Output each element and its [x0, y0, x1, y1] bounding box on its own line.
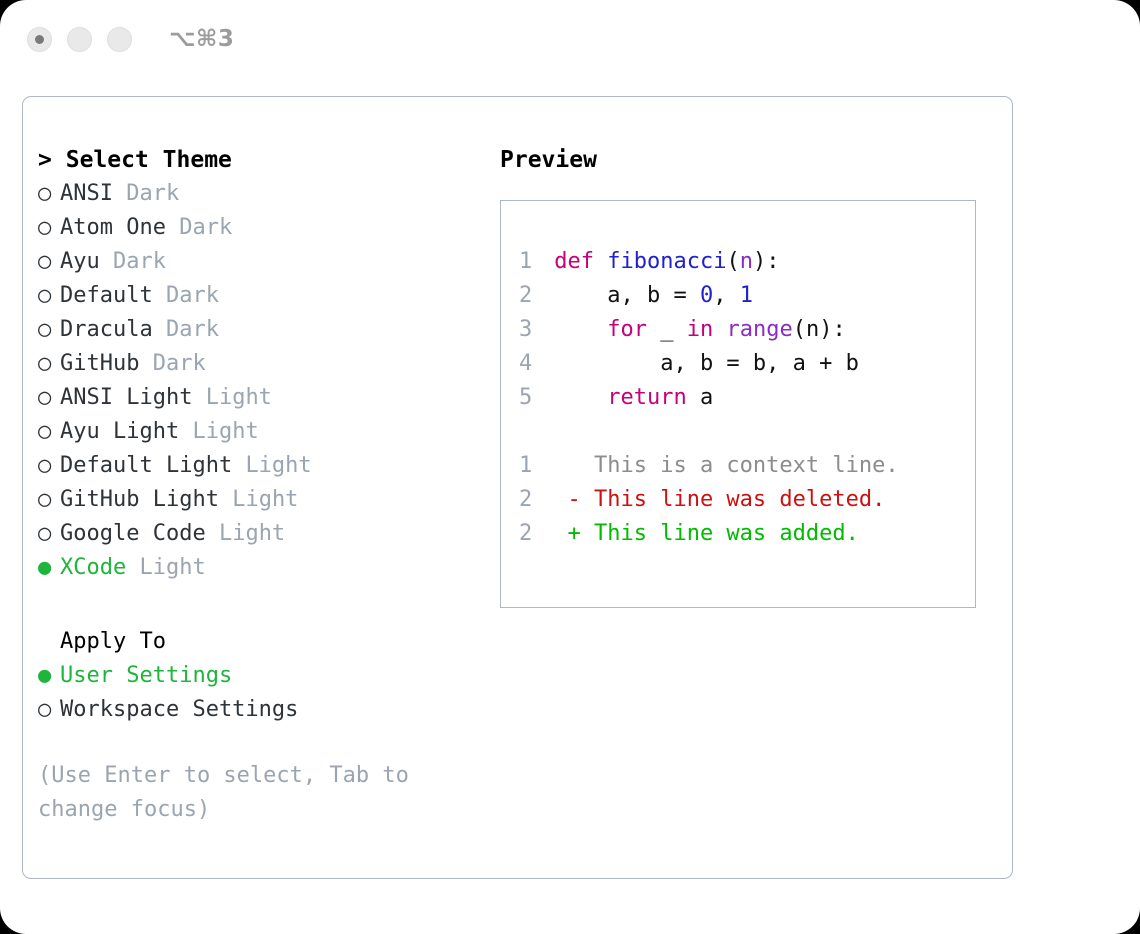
window-dot-2-icon[interactable]: [67, 27, 92, 52]
line-number: 1: [519, 449, 541, 483]
code-token: a: [687, 385, 714, 410]
diff-line: 2 - This line was deleted.: [519, 483, 975, 517]
heading-text: Select Theme: [66, 147, 232, 173]
theme-name: Google Code: [60, 521, 206, 546]
code-line: 3 for _ in range(n):: [519, 313, 975, 347]
code-token: [713, 317, 726, 342]
diff-text: + This line was added.: [541, 521, 859, 546]
app-window: ⌥⌘3 > Select Theme ○ANSI Dark○Atom One D…: [0, 0, 1140, 934]
gap: [232, 453, 245, 478]
gap: [219, 487, 232, 512]
diff-line: 1 This is a context line.: [519, 449, 975, 483]
preview-column: Preview 1 def fibonacci(n):2 a, b = 0, 1…: [500, 143, 1000, 608]
code-token: 0: [700, 283, 713, 308]
line-number: 2: [519, 483, 541, 517]
code-token: [554, 317, 607, 342]
radio-unselected-icon: ○: [38, 245, 60, 279]
code-blank-line: [519, 415, 975, 449]
code-line: 1 def fibonacci(n):: [519, 245, 975, 279]
heading-prefix: >: [38, 147, 52, 173]
gap: [126, 555, 139, 580]
code-token: [554, 385, 607, 410]
gap: [153, 283, 166, 308]
apply-to-heading: Apply To: [38, 625, 488, 659]
theme-kind-label: Dark: [179, 215, 232, 240]
code-block: 1 def fibonacci(n):2 a, b = 0, 13 for _ …: [519, 245, 975, 415]
theme-kind-label: Light: [139, 555, 205, 580]
code-token: n: [740, 249, 753, 274]
theme-list-item[interactable]: ○Dracula Dark: [38, 313, 488, 347]
theme-list-item[interactable]: ○Default Dark: [38, 279, 488, 313]
diff-text: This is a context line.: [541, 453, 899, 478]
main-panel: > Select Theme ○ANSI Dark○Atom One Dark○…: [22, 96, 1013, 879]
theme-name: ANSI: [60, 181, 113, 206]
theme-name: Dracula: [60, 317, 153, 342]
theme-name: XCode: [60, 555, 126, 580]
gap: [541, 351, 554, 376]
radio-unselected-icon: ○: [38, 517, 60, 551]
gap: [179, 419, 192, 444]
theme-name: Ayu Light: [60, 419, 179, 444]
radio-unselected-icon: ○: [38, 449, 60, 483]
theme-kind-label: Dark: [166, 317, 219, 342]
radio-unselected-icon: ○: [38, 211, 60, 245]
radio-selected-icon: ●: [38, 551, 60, 585]
code-token: 1: [740, 283, 753, 308]
line-number: 2: [519, 517, 541, 551]
code-token: [594, 249, 607, 274]
code-token: a, b =: [554, 283, 700, 308]
radio-unselected-icon: ○: [38, 693, 60, 727]
radio-selected-icon: ●: [38, 659, 60, 693]
select-theme-heading: > Select Theme: [38, 143, 488, 177]
code-token: def: [554, 249, 594, 274]
code-token: range: [726, 317, 792, 342]
spacer: [38, 727, 488, 759]
code-token: (: [726, 249, 739, 274]
window-dot-active-icon[interactable]: [27, 27, 52, 52]
theme-name: GitHub: [60, 351, 139, 376]
code-line: 4 a, b = b, a + b: [519, 347, 975, 381]
theme-kind-label: Dark: [126, 181, 179, 206]
gap: [206, 521, 219, 546]
theme-list-item[interactable]: ○Google Code Light: [38, 517, 488, 551]
code-token: for: [607, 317, 647, 342]
line-number: 5: [519, 381, 541, 415]
theme-name: Ayu: [60, 249, 100, 274]
radio-unselected-icon: ○: [38, 177, 60, 211]
apply-to-item[interactable]: ●User Settings: [38, 659, 488, 693]
apply-to-name: User Settings: [60, 663, 232, 688]
apply-to-item[interactable]: ○Workspace Settings: [38, 693, 488, 727]
gap: [541, 317, 554, 342]
code-token: ,: [713, 283, 740, 308]
gap: [541, 385, 554, 410]
gap: [541, 249, 554, 274]
theme-kind-label: Dark: [153, 351, 206, 376]
keyboard-hint-line-2: change focus): [38, 793, 438, 827]
radio-unselected-icon: ○: [38, 313, 60, 347]
line-number: 3: [519, 313, 541, 347]
theme-list-item[interactable]: ○GitHub Light Light: [38, 483, 488, 517]
theme-list-item[interactable]: ○Ayu Light Light: [38, 415, 488, 449]
theme-name: Atom One: [60, 215, 166, 240]
code-token: fibonacci: [607, 249, 726, 274]
radio-unselected-icon: ○: [38, 381, 60, 415]
code-token: in: [687, 317, 714, 342]
diff-line: 2 + This line was added.: [519, 517, 975, 551]
line-number: 2: [519, 279, 541, 313]
window-dot-active-center: [35, 35, 44, 44]
apply-to-name: Workspace Settings: [60, 697, 298, 722]
radio-unselected-icon: ○: [38, 483, 60, 517]
theme-name: Default: [60, 283, 153, 308]
code-token: ):: [753, 249, 780, 274]
gap: [100, 249, 113, 274]
keyboard-hint: (Use Enter to select, Tab to change focu…: [38, 759, 438, 827]
theme-kind-label: Light: [206, 385, 272, 410]
theme-kind-label: Light: [232, 487, 298, 512]
code-token: _: [647, 317, 687, 342]
gap: [166, 215, 179, 240]
gap: [192, 385, 205, 410]
theme-name: Default Light: [60, 453, 232, 478]
apply-to-list: ●User Settings○Workspace Settings: [38, 659, 488, 727]
code-token: (n):: [793, 317, 846, 342]
line-number: 1: [519, 245, 541, 279]
radio-unselected-icon: ○: [38, 347, 60, 381]
diff-block: 1 This is a context line.2 - This line w…: [519, 449, 975, 551]
keyboard-hint-line-1: (Use Enter to select, Tab to: [38, 759, 438, 793]
code-line: 2 a, b = 0, 1: [519, 279, 975, 313]
spacer: [38, 585, 488, 625]
theme-list-item[interactable]: ○ANSI Dark: [38, 177, 488, 211]
theme-kind-label: Light: [219, 521, 285, 546]
line-number: 4: [519, 347, 541, 381]
title-bar: ⌥⌘3: [0, 0, 1140, 78]
window-dot-3-icon[interactable]: [107, 27, 132, 52]
theme-name: GitHub Light: [60, 487, 219, 512]
theme-list-item[interactable]: ○Ayu Dark: [38, 245, 488, 279]
radio-unselected-icon: ○: [38, 279, 60, 313]
gap: [139, 351, 152, 376]
theme-selection-column: > Select Theme ○ANSI Dark○Atom One Dark○…: [38, 143, 488, 827]
theme-kind-label: Dark: [113, 249, 166, 274]
gap: [113, 181, 126, 206]
preview-code-box: 1 def fibonacci(n):2 a, b = 0, 13 for _ …: [500, 200, 976, 608]
theme-list: ○ANSI Dark○Atom One Dark○Ayu Dark○Defaul…: [38, 177, 488, 585]
theme-name: ANSI Light: [60, 385, 192, 410]
gap: [541, 283, 554, 308]
radio-unselected-icon: ○: [38, 415, 60, 449]
code-token: a, b = b, a + b: [554, 351, 859, 376]
theme-list-item[interactable]: ○Default Light Light: [38, 449, 488, 483]
theme-list-item[interactable]: ●XCode Light: [38, 551, 488, 585]
keyboard-shortcut-label: ⌥⌘3: [169, 26, 234, 52]
theme-kind-label: Light: [245, 453, 311, 478]
theme-list-item[interactable]: ○ANSI Light Light: [38, 381, 488, 415]
code-line: 5 return a: [519, 381, 975, 415]
theme-kind-label: Dark: [166, 283, 219, 308]
gap: [153, 317, 166, 342]
theme-list-item[interactable]: ○Atom One Dark: [38, 211, 488, 245]
theme-list-item[interactable]: ○GitHub Dark: [38, 347, 488, 381]
preview-heading: Preview: [500, 143, 1000, 177]
theme-kind-label: Light: [192, 419, 258, 444]
code-token: return: [607, 385, 686, 410]
diff-text: - This line was deleted.: [541, 487, 885, 512]
